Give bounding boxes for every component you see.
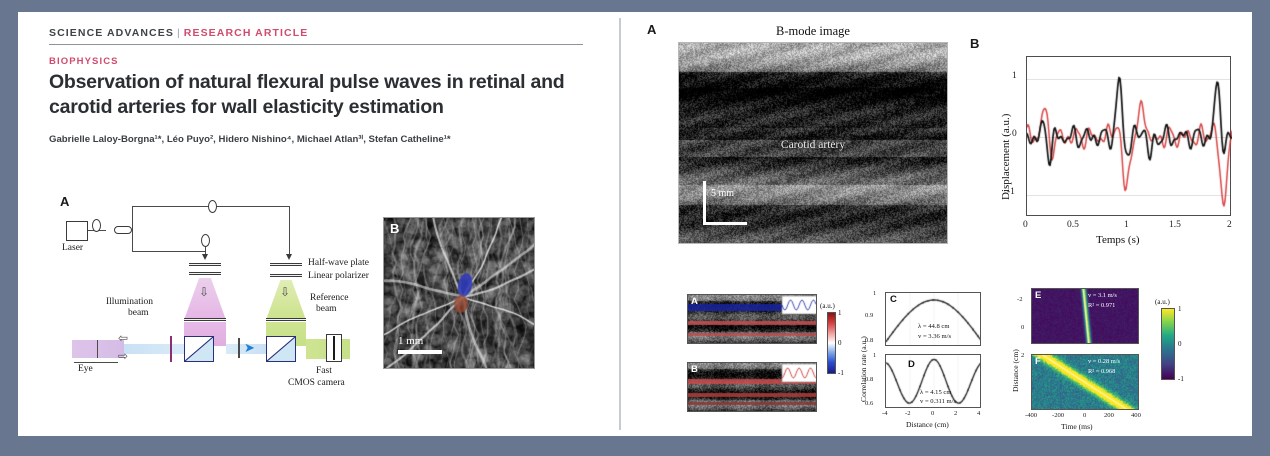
plot-d: D λ = 4.15 cm v = 0.311 m/s — [885, 354, 981, 408]
heat-ytick-2: 2 — [1021, 352, 1024, 359]
fiber-lower-run — [132, 251, 206, 252]
reference-beam-label-1: Reference — [310, 293, 349, 303]
bmode-scale-bar-vertical — [703, 181, 706, 225]
heatmap-e-canvas — [1032, 289, 1139, 344]
reference-lens — [266, 318, 306, 321]
displacement-traces-canvas — [1027, 57, 1232, 217]
reference-arrow: ⇩ — [280, 286, 290, 298]
heat-xtick-neg200: -200 — [1052, 412, 1064, 419]
bmode-scale-label: 5 mm — [711, 188, 734, 199]
heatmap-e: E v = 3.1 m/s R² = 0.971 — [1031, 288, 1139, 344]
camera-sensor-line — [333, 336, 335, 360]
heatmap-f-canvas — [1032, 355, 1139, 410]
author-list: Gabrielle Laloy-Borgna¹*, Léo Puyo², Hid… — [49, 134, 594, 145]
illumination-polarizer — [189, 272, 221, 275]
heat-ytick-0: 0 — [1021, 324, 1024, 331]
illumination-beam-label-1: Illumination — [106, 297, 153, 307]
plot-d-letter: D — [908, 359, 915, 370]
header-rule — [49, 44, 583, 45]
laser-label: Laser — [62, 243, 83, 253]
header-separator: | — [174, 27, 184, 39]
displacement-ylabel: Displacement (a.u.) — [1000, 114, 1012, 200]
cd-xtick-4: 4 — [977, 410, 980, 417]
figure-retina-image: B 1 mm — [383, 217, 535, 369]
colorbar-redblue-tick-0: 0 — [838, 339, 842, 347]
displacement-axes — [1026, 56, 1231, 216]
arrow-to-illumination — [202, 254, 208, 260]
heat-xtick-neg400: -400 — [1025, 412, 1037, 419]
half-wave-plate-label: Half-wave plate — [308, 258, 369, 268]
eye-out-arrow: ⇨ — [118, 350, 128, 362]
figure-optical-setup: A Laser — [58, 194, 368, 399]
colorbar-viridis-tick-neg1: -1 — [1178, 375, 1184, 383]
plot-d-annot-lambda: λ = 4.15 cm — [920, 389, 951, 398]
reference-polarizer — [270, 274, 302, 277]
figure-panels-pane: A B-mode image Carotid artery 5 mm B 1 — [621, 12, 1252, 436]
cd-xtick-2: 2 — [954, 410, 957, 417]
heat-xtick-200: 200 — [1104, 412, 1114, 419]
page-title: Observation of natural flexural pulse wa… — [49, 70, 594, 120]
probe-beam-segment — [124, 344, 184, 354]
heat-xlabel: Time (ms) — [1061, 422, 1093, 431]
retina-scale-bar — [398, 350, 442, 354]
ytick-1: 1 — [1012, 71, 1017, 81]
probe-arrow: ➤ — [244, 341, 255, 354]
colorbar-redblue-tick-1: 1 — [838, 309, 842, 317]
heat-xtick-0: 0 — [1083, 412, 1086, 419]
reference-halfwave-plate — [270, 263, 302, 266]
colorbar-viridis-tick-1: 1 — [1178, 305, 1182, 313]
colorbar-redblue-unit: (a.u.) — [820, 302, 835, 310]
heat-xtick-400: 400 — [1131, 412, 1141, 419]
arrow-to-reference — [286, 254, 292, 260]
aperture-stop — [238, 338, 240, 358]
bottom-figure-row: A B (a.u.) 1 0 -1 C λ = 44.8 cm v = 3.36 — [621, 274, 1252, 436]
plot-c-ytick-09: 0.9 — [865, 312, 873, 319]
mirror-plate-left — [170, 336, 172, 362]
fiber-coil-top — [208, 200, 217, 213]
eye-axis-marker — [97, 340, 98, 358]
camera-label-1: Fast — [316, 366, 332, 376]
article-front-page: SCIENCE ADVANCES|RESEARCH ARTICLE BIOPHY… — [18, 12, 619, 436]
fiber-lower-riser — [132, 230, 133, 252]
plot-c-annot-lambda: λ = 44.8 cm — [918, 323, 949, 332]
xtick-1: 1 — [1124, 220, 1129, 230]
colorbar-viridis — [1161, 308, 1175, 380]
ultrasound-strip-a-letter: A — [691, 296, 698, 307]
plot-d-ytick-1: 1 — [873, 352, 876, 359]
fiber-riser-left — [132, 206, 133, 230]
bmode-title: B-mode image — [683, 24, 943, 39]
reference-beam-label-2: beam — [316, 304, 337, 314]
heat-ytick-neg2: -2 — [1017, 296, 1023, 303]
retina-scale-label: 1 mm — [398, 335, 423, 347]
cd-xlabel: Distance (cm) — [906, 420, 949, 429]
ultrasound-strip-b-canvas — [688, 363, 817, 412]
document-sheet: SCIENCE ADVANCES|RESEARCH ARTICLE BIOPHY… — [18, 12, 1252, 436]
article-type: RESEARCH ARTICLE — [184, 27, 309, 39]
colorbar-redblue-tick-neg1: -1 — [838, 369, 844, 377]
linear-polarizer-label: Linear polarizer — [308, 271, 369, 281]
laser-box — [66, 221, 88, 241]
cd-ylabel: Correlation rate (a.u.) — [859, 336, 868, 402]
illumination-halfwave-plate — [189, 263, 221, 266]
displacement-panel-letter: B — [970, 36, 979, 51]
cd-xtick-neg4: -4 — [882, 410, 888, 417]
xtick-05: 0.5 — [1067, 220, 1079, 230]
ultrasound-strip-b: B — [687, 362, 817, 412]
journal-name: SCIENCE ADVANCES — [49, 27, 174, 39]
eye-label: Eye — [78, 364, 93, 374]
plot-c: C λ = 44.8 cm v = 3.36 m/s — [885, 292, 981, 346]
section-kicker: BIOPHYSICS — [49, 56, 119, 67]
plot-c-annot-velocity: v = 3.36 m/s — [918, 333, 951, 342]
plot-c-ytick-1: 1 — [873, 290, 876, 297]
colorbar-viridis-unit: (a.u.) — [1155, 298, 1170, 306]
beamsplitter-1 — [184, 336, 214, 362]
fiber-coupler — [114, 226, 132, 234]
cd-xtick-0: 0 — [931, 410, 934, 417]
ultrasound-strip-a: A — [687, 294, 817, 344]
screenshot-viewport: SCIENCE ADVANCES|RESEARCH ARTICLE BIOPHY… — [0, 0, 1270, 456]
heatmap-f-letter: F — [1035, 356, 1041, 367]
cd-xtick-neg2: -2 — [905, 410, 911, 417]
fiber-drop-reference — [289, 206, 290, 256]
beamsplitter-2 — [266, 336, 296, 362]
retina-panel-letter: B — [390, 221, 399, 236]
illumination-lens — [184, 318, 226, 321]
heatmap-e-letter: E — [1035, 290, 1041, 301]
illumination-arrow: ⇩ — [199, 286, 209, 298]
xtick-15: 1.5 — [1169, 220, 1181, 230]
bmode-scale-bar-horizontal — [703, 222, 747, 225]
colorbar-viridis-tick-0: 0 — [1178, 340, 1182, 348]
heatmap-f-r2: R² = 0.968 — [1088, 368, 1115, 377]
bmode-panel-letter: A — [647, 22, 656, 37]
heatmap-f: F v = 0.28 m/s R² = 0.968 — [1031, 354, 1139, 410]
ytick-0: 0 — [1012, 129, 1017, 139]
bmode-ultrasound-image: Carotid artery 5 mm — [678, 42, 948, 244]
camera-label-2: CMOS camera — [288, 378, 345, 388]
carotid-artery-label: Carotid artery — [679, 139, 947, 151]
journal-header: SCIENCE ADVANCES|RESEARCH ARTICLE — [49, 27, 308, 39]
xtick-2: 2 — [1227, 220, 1232, 230]
heatmap-f-velocity: v = 0.28 m/s — [1088, 358, 1120, 367]
ultrasound-strip-a-canvas — [688, 295, 817, 344]
plot-d-annot-velocity: v = 0.311 m/s — [920, 398, 956, 407]
illumination-beam-label-2: beam — [128, 308, 149, 318]
heat-ylabel: Distance (cm) — [1011, 349, 1020, 392]
displacement-plot: B 1 0 -1 0 0.5 1 1.5 2 Temps (s) Displac… — [976, 40, 1241, 260]
heatmap-e-r2: R² = 0.971 — [1088, 302, 1115, 311]
colorbar-redblue — [827, 312, 836, 374]
heatmap-e-velocity: v = 3.1 m/s — [1088, 292, 1117, 301]
displacement-xlabel: Temps (s) — [1096, 234, 1140, 246]
fiber-coil-1 — [92, 219, 101, 232]
xtick-0: 0 — [1023, 220, 1028, 230]
ultrasound-strip-b-letter: B — [691, 364, 698, 375]
fiber-coil-2 — [201, 234, 210, 247]
panel-letter-a: A — [60, 194, 69, 209]
eye-in-arrow: ⇦ — [118, 332, 128, 344]
plot-c-letter: C — [890, 294, 897, 305]
